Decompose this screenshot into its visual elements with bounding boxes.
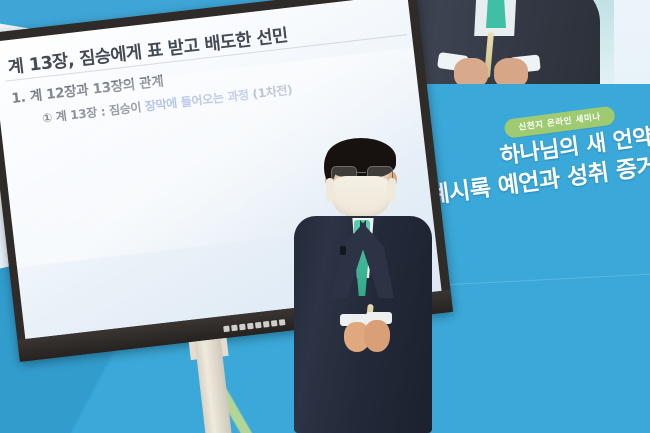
slide-bullet-2-highlight: 장막에 들어오는 과정 xyxy=(144,87,253,113)
monitor-button-3[interactable] xyxy=(239,324,246,331)
glasses-bridge xyxy=(356,172,366,173)
speaker-figure xyxy=(288,138,438,433)
speaker-hand-right xyxy=(364,320,390,352)
monitor-button-1[interactable] xyxy=(223,326,230,333)
monitor-button-4[interactable] xyxy=(247,323,254,330)
monitor-button-6[interactable] xyxy=(263,321,270,328)
monitor-button-8[interactable] xyxy=(279,319,286,326)
monitor-button-2[interactable] xyxy=(231,325,238,332)
lapel-microphone-icon xyxy=(340,246,346,255)
slide-bullet-2-prefix: ① 계 13장 : 짐승이 xyxy=(41,100,145,126)
slide-bullet-2-tail: (1차전) xyxy=(252,83,293,101)
monitor-button-5[interactable] xyxy=(255,322,262,329)
photo-panel-tie xyxy=(486,0,506,28)
press-photo-scene: 신천지 온라인 세미나 하나님의 새 언약 계시록 예언과 성취 증거 계 13… xyxy=(0,0,650,433)
monitor-button-7[interactable] xyxy=(271,320,278,327)
face-mask xyxy=(332,176,390,218)
